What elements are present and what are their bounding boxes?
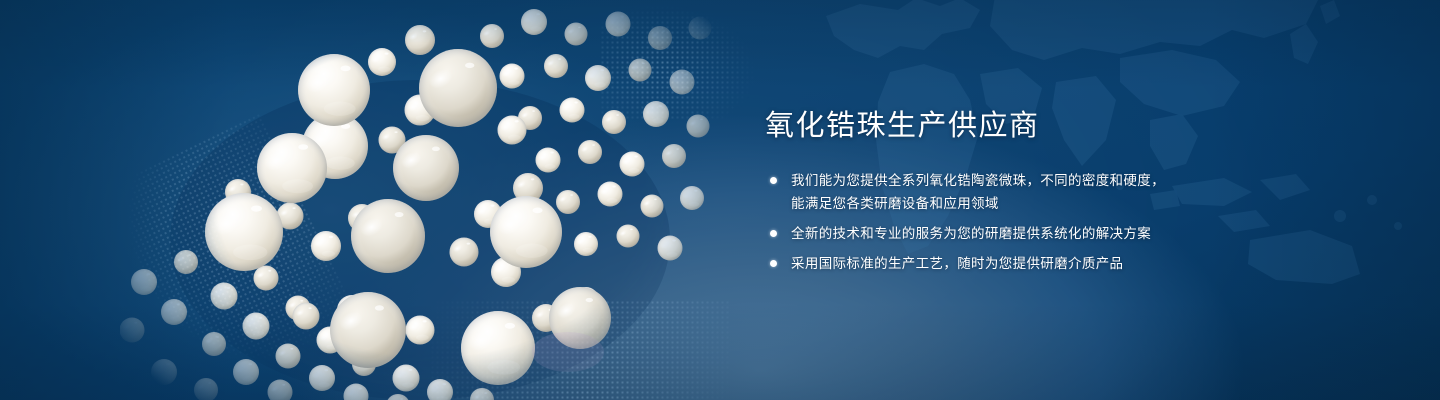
list-item: 全新的技术和专业的服务为您的研磨提供系统化的解决方案 [765,223,1385,244]
list-item: 我们能为您提供全系列氧化锆陶瓷微珠，不同的密度和硬度， 能满足您各类研磨设备和应… [765,170,1385,214]
hero-banner: 氧化锆珠生产供应商 我们能为您提供全系列氧化锆陶瓷微珠，不同的密度和硬度， 能满… [0,0,1440,400]
zirconia-beads-image [120,0,720,400]
banner-copy: 氧化锆珠生产供应商 我们能为您提供全系列氧化锆陶瓷微珠，不同的密度和硬度， 能满… [765,108,1385,274]
page-title: 氧化锆珠生产供应商 [765,108,1385,144]
list-item-line: 采用国际标准的生产工艺，随时为您提供研磨介质产品 [791,253,1385,274]
bullet-dot-icon [770,177,777,184]
list-item-line: 我们能为您提供全系列氧化锆陶瓷微珠，不同的密度和硬度， [791,170,1385,191]
feature-list: 我们能为您提供全系列氧化锆陶瓷微珠，不同的密度和硬度， 能满足您各类研磨设备和应… [765,170,1385,274]
list-item: 采用国际标准的生产工艺，随时为您提供研磨介质产品 [765,253,1385,274]
bullet-dot-icon [770,230,777,237]
bullet-dot-icon [770,260,777,267]
list-item-line: 能满足您各类研磨设备和应用领域 [791,193,1385,214]
list-item-line: 全新的技术和专业的服务为您的研磨提供系统化的解决方案 [791,223,1385,244]
